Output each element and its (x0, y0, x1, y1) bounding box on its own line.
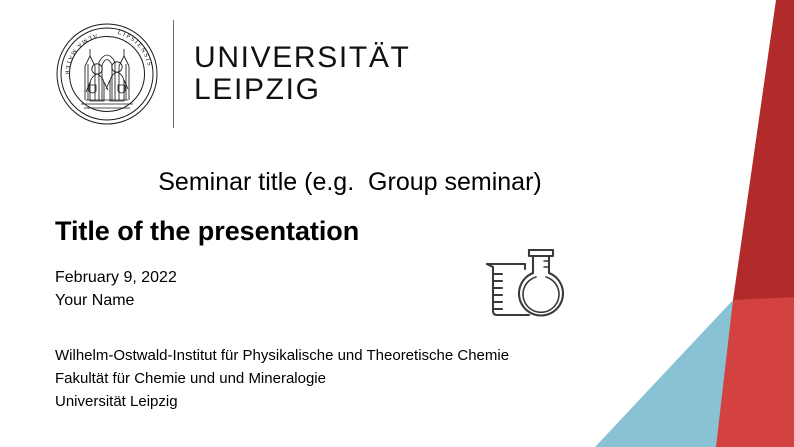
wordmark-line-leipzig: LEIPZIG (194, 74, 411, 106)
svg-text:ALMA MATER: ALMA MATER (63, 32, 98, 76)
blue-triangle (595, 300, 733, 447)
affiliation-university: Universität Leipzig (55, 391, 509, 414)
logo-divider (173, 20, 174, 128)
affiliation-institute: Wilhelm-Ostwald-Institut für Physikalisc… (55, 345, 509, 368)
presentation-meta: February 9, 2022 Your Name (55, 267, 177, 312)
affiliation-faculty: Fakultät für Chemie und und Mineralogie (55, 368, 509, 391)
university-logo: ALMA MATER LIPSIENSIS (55, 18, 411, 130)
dark-red-triangle (733, 0, 794, 300)
bright-red-triangle (700, 297, 794, 447)
university-seal-icon: ALMA MATER LIPSIENSIS (55, 22, 159, 126)
presentation-title: Title of the presentation (55, 216, 359, 247)
presentation-slide: ALMA MATER LIPSIENSIS (0, 0, 794, 447)
university-wordmark: UNIVERSITÄT LEIPZIG (194, 42, 411, 107)
affiliation: Wilhelm-Ostwald-Institut für Physikalisc… (55, 345, 509, 413)
presentation-date: February 9, 2022 (55, 267, 177, 290)
seminar-title: Seminar title (e.g. Group seminar) (55, 168, 645, 197)
beaker-and-flask-icon (481, 247, 569, 319)
wordmark-line-universitaet: UNIVERSITÄT (194, 42, 411, 74)
presenter-name: Your Name (55, 290, 177, 313)
